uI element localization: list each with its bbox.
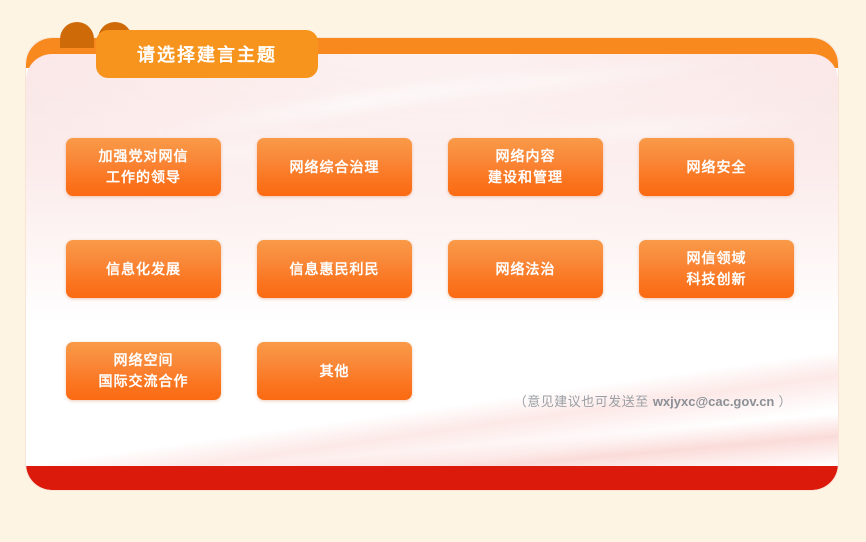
email-note: （意见建议也可发送至 wxjyxc@cac.gov.cn ） [514,391,792,410]
topic-button-comprehensive-governance[interactable]: 网络综合治理 [257,138,412,196]
light-streak-decoration [327,54,756,110]
topic-button-content-management[interactable]: 网络内容 建设和管理 [448,138,603,196]
card-bottom-bar [26,466,838,490]
topic-button-tech-innovation[interactable]: 网信领域 科技创新 [639,240,794,298]
topic-button-party-leadership[interactable]: 加强党对网信 工作的领导 [66,138,221,196]
ribbon-plate: 请选择建言主题 [96,30,318,78]
topic-button-informatization[interactable]: 信息化发展 [66,240,221,298]
topic-button-grid: 加强党对网信 工作的领导 网络综合治理 网络内容 建设和管理 网络安全 信息化发… [66,138,806,400]
topic-button-international-cooperation[interactable]: 网络空间 国际交流合作 [66,342,221,400]
topic-button-network-rule-of-law[interactable]: 网络法治 [448,240,603,298]
email-address[interactable]: wxjyxc@cac.gov.cn [653,394,775,409]
ribbon-notch-right-icon [60,22,94,48]
page-title: 请选择建言主题 [137,41,277,67]
topic-button-benefit-people[interactable]: 信息惠民利民 [257,240,412,298]
card-body: 加强党对网信 工作的领导 网络综合治理 网络内容 建设和管理 网络安全 信息化发… [26,54,838,490]
email-note-suffix: ） [774,394,792,409]
topic-selection-card: 加强党对网信 工作的领导 网络综合治理 网络内容 建设和管理 网络安全 信息化发… [26,38,838,490]
email-note-prefix: （意见建议也可发送至 [514,394,653,409]
topic-button-network-security[interactable]: 网络安全 [639,138,794,196]
topic-button-other[interactable]: 其他 [257,342,412,400]
